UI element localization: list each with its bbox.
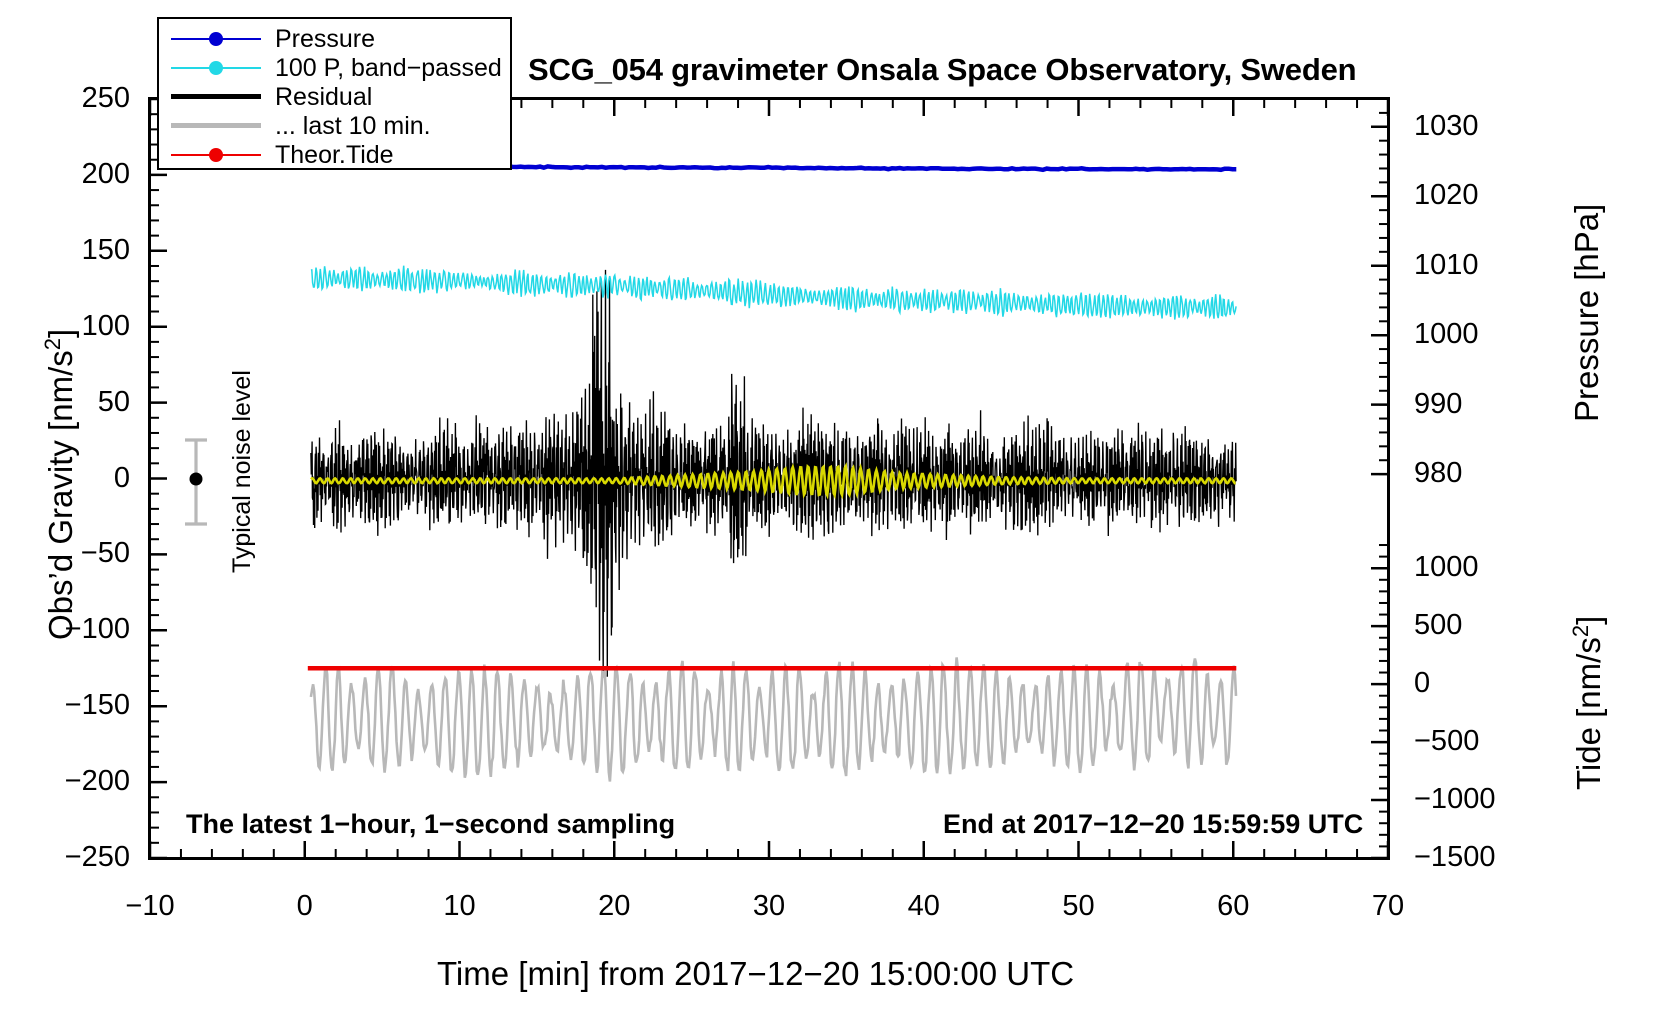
y-left-tick-0: 250 [20, 84, 130, 113]
legend-swatch-pressure [171, 25, 261, 53]
y-left-axis-title: Obs’d Gravity [nm/s2] [40, 329, 80, 640]
y-right-pressure-tick-0: 1030 [1414, 112, 1534, 141]
x-tick-7: 60 [1173, 892, 1293, 921]
y-right-pressure-axis-title-text: Pressure [hPa] [1568, 204, 1605, 422]
legend-item-residual[interactable]: Residual [159, 83, 510, 111]
legend-item-band-passed[interactable]: 100 P, band−passed [159, 54, 510, 82]
legend-label-theor-tide: Theor.Tide [275, 143, 394, 168]
x-tick-0: −10 [90, 892, 210, 921]
legend-label-last-10-min: ... last 10 min. [275, 114, 431, 139]
x-axis-title: Time [min] from 2017−12−20 15:00:00 UTC [437, 955, 1074, 993]
plot-frame [148, 97, 1390, 860]
y-left-tick-10: −250 [20, 843, 130, 872]
chart-canvas: SCG_054 gravimeter Onsala Space Observat… [0, 0, 1660, 1020]
legend-item-last-10-min[interactable]: ... last 10 min. [159, 112, 510, 140]
page-title: SCG_054 gravimeter Onsala Space Observat… [528, 52, 1356, 88]
legend-swatch-last-10-min [171, 112, 261, 140]
legend-swatch-theor-tide [171, 141, 261, 169]
y-right-pressure-axis-title: Pressure [hPa] [1568, 204, 1606, 422]
y-right-pressure-tick-3: 1000 [1414, 320, 1534, 349]
x-tick-4: 30 [709, 892, 829, 921]
x-tick-8: 70 [1328, 892, 1448, 921]
y-right-tide-tick-2: 0 [1414, 669, 1544, 698]
legend-item-pressure[interactable]: Pressure [159, 25, 510, 53]
y-right-tide-tick-5: −1500 [1414, 843, 1544, 872]
y-left-axis-title-text: Obs’d Gravity [nm/s2] [42, 329, 79, 640]
legend-item-theor-tide[interactable]: Theor.Tide [159, 141, 510, 169]
y-right-pressure-tick-4: 990 [1414, 390, 1534, 419]
y-right-pressure-tick-1: 1020 [1414, 181, 1534, 210]
y-left-tick-9: −200 [20, 767, 130, 796]
y-right-pressure-tick-2: 1010 [1414, 251, 1534, 280]
legend-label-band-passed: 100 P, band−passed [275, 56, 502, 81]
y-right-tide-axis-title-text: Tide [nm/s2] [1570, 616, 1607, 790]
x-tick-3: 20 [554, 892, 674, 921]
x-tick-2: 10 [400, 892, 520, 921]
legend-label-residual: Residual [275, 85, 372, 110]
x-tick-1: 0 [245, 892, 365, 921]
annotation-noise-level: Typical noise level [228, 370, 257, 573]
annotation-bottom-left: The latest 1−hour, 1−second sampling [186, 809, 675, 840]
y-left-tick-2: 150 [20, 236, 130, 265]
x-tick-6: 50 [1019, 892, 1139, 921]
y-right-pressure-tick-5: 980 [1414, 459, 1534, 488]
legend-swatch-residual [171, 83, 261, 111]
y-right-tide-tick-0: 1000 [1414, 553, 1544, 582]
y-right-tide-tick-1: 500 [1414, 611, 1544, 640]
x-tick-5: 40 [864, 892, 984, 921]
y-left-tick-1: 200 [20, 160, 130, 189]
y-right-tide-axis-title: Tide [nm/s2] [1568, 616, 1608, 790]
y-right-tide-tick-3: −500 [1414, 727, 1544, 756]
annotation-bottom-right: End at 2017−12−20 15:59:59 UTC [943, 809, 1363, 840]
legend-label-pressure: Pressure [275, 27, 375, 52]
y-right-tide-tick-4: −1000 [1414, 785, 1544, 814]
legend[interactable]: Pressure 100 P, band−passed Residual ...… [157, 17, 512, 170]
legend-swatch-band-passed [171, 54, 261, 82]
y-left-tick-8: −150 [20, 691, 130, 720]
